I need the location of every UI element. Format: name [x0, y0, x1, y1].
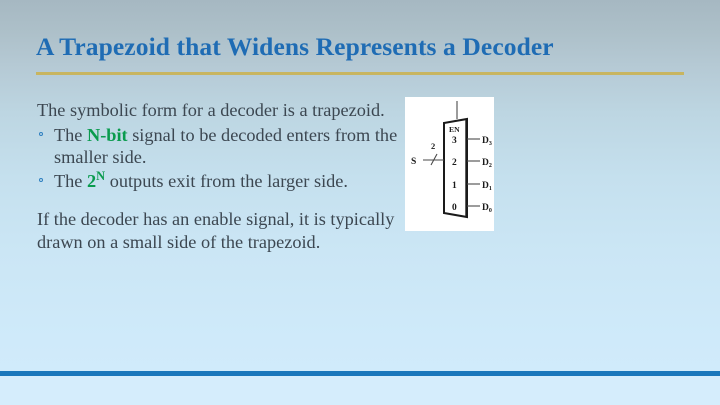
- enable-label: EN: [449, 125, 460, 134]
- bus-width-label: 2: [431, 141, 435, 151]
- select-label-0: 0: [452, 203, 457, 213]
- select-label-3: 3: [452, 136, 457, 146]
- output-label-d1: D1: [482, 181, 492, 192]
- slide-canvas: A Trapezoid that Widens Represents a Dec…: [0, 0, 720, 405]
- intro-paragraph: The symbolic form for a decoder is a tra…: [37, 99, 407, 122]
- bullet-text-pre: The: [54, 125, 87, 145]
- output-label-d0: D0: [482, 203, 492, 214]
- highlight-base: 2: [87, 171, 96, 191]
- page-title: A Trapezoid that Widens Represents a Dec…: [36, 32, 686, 62]
- select-label-2: 2: [452, 158, 457, 168]
- input-label-s: S: [411, 157, 416, 167]
- closing-paragraph: If the decoder has an enable signal, it …: [37, 208, 407, 253]
- output-label-d3: D3: [482, 136, 492, 147]
- bullet-list: The N-bit signal to be decoded enters fr…: [37, 124, 407, 193]
- output-label-d2: D2: [482, 158, 492, 169]
- bullet-highlight-two-power-n: 2N: [87, 171, 105, 191]
- bullet-text-post: outputs exit from the larger side.: [105, 171, 348, 191]
- bullet-dot-icon: [39, 178, 43, 182]
- bullet-highlight-n-bit: N-bit: [87, 125, 128, 145]
- select-label-1: 1: [452, 181, 457, 191]
- footer: ECE 120: Introduction to Computing © 201…: [0, 376, 720, 405]
- list-item: The 2N outputs exit from the larger side…: [37, 170, 407, 193]
- body-content: The symbolic form for a decoder is a tra…: [37, 99, 407, 253]
- bullet-dot-icon: [39, 132, 43, 136]
- decoder-trapezoid-diagram: S 2 EN 3 2 1 0 D3 D2 D1 D0: [405, 97, 494, 231]
- highlight-exponent: N: [96, 168, 105, 182]
- bullet-text-pre: The: [54, 171, 87, 191]
- title-divider: [36, 72, 684, 75]
- list-item: The N-bit signal to be decoded enters fr…: [37, 124, 407, 169]
- decoder-figure: S 2 EN 3 2 1 0 D3 D2 D1 D0: [405, 97, 494, 231]
